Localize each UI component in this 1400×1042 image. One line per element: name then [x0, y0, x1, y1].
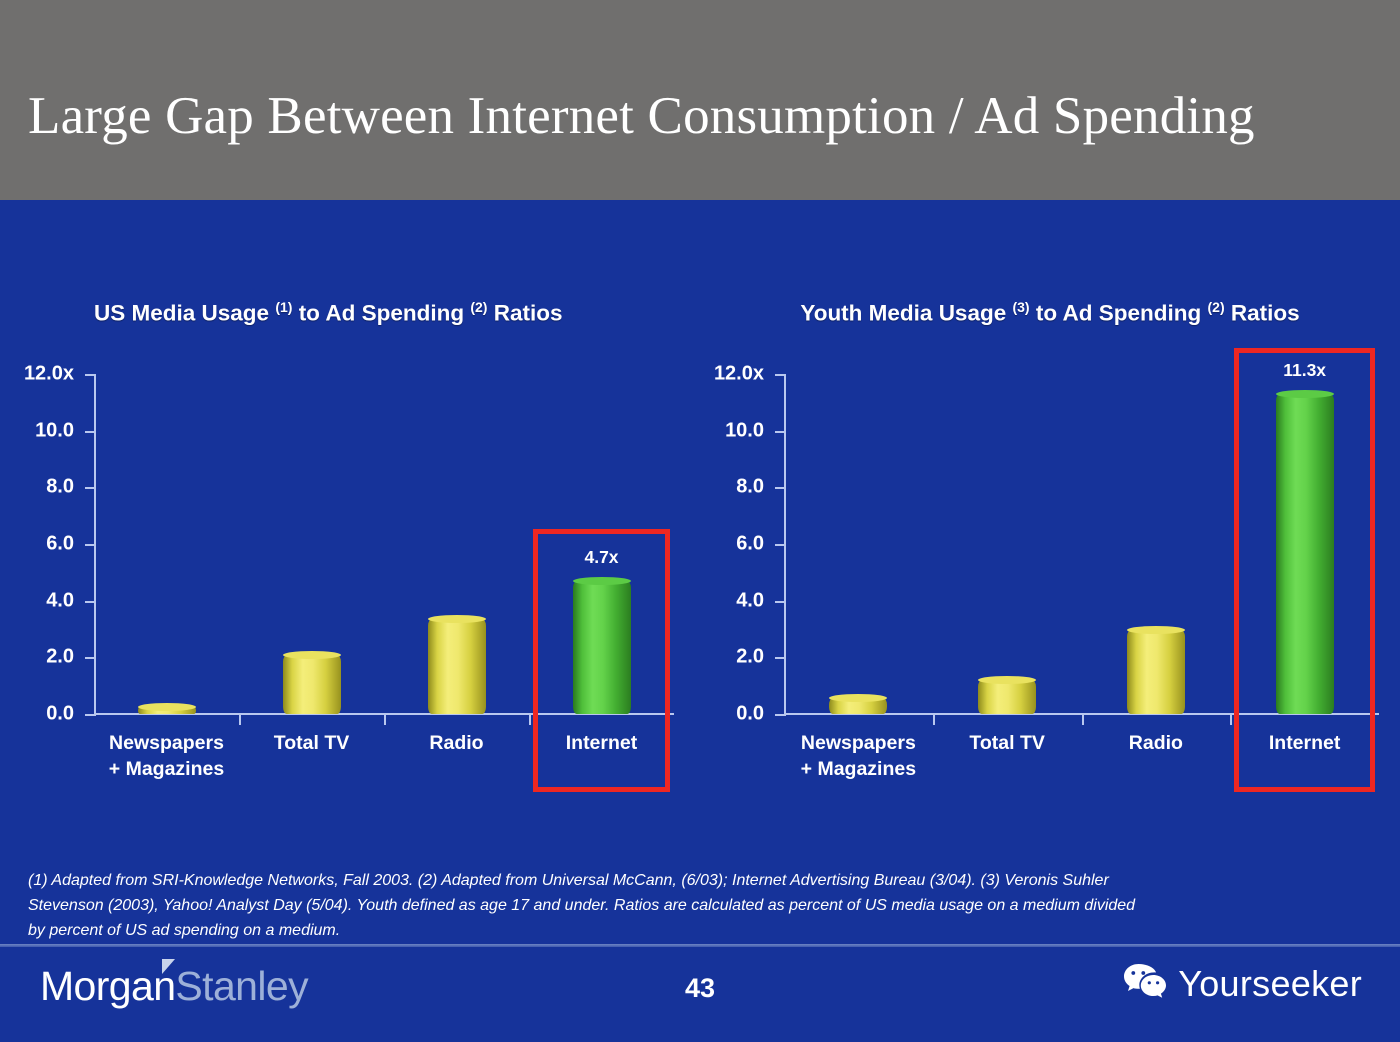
chart-title-part-b: to Ad Spending: [292, 301, 470, 326]
footnote-ref-2: (2): [1208, 299, 1225, 315]
y-axis-tick: [775, 544, 786, 546]
chart-title-youth: Youth Media Usage (3) to Ad Spending (2)…: [700, 290, 1400, 331]
slide-footer: MorganStanley 43 Yourseeker: [0, 947, 1400, 1042]
x-axis-label-internet: Internet: [1230, 730, 1379, 782]
y-axis-tick-label: 10.0: [35, 419, 74, 442]
plot-area-us: 4.7x 0.02.04.06.08.010.012.0x: [94, 374, 674, 714]
bar-group-us: 4.7x: [94, 374, 674, 714]
x-axis-label-line: Newspapers: [784, 730, 933, 756]
wechat-icon: [1122, 962, 1168, 1005]
x-axis-label-line: Total TV: [933, 730, 1082, 756]
x-axis-label-radio: Radio: [384, 730, 529, 782]
chart-title-us: US Media Usage (1) to Ad Spending (2) Ra…: [0, 290, 700, 331]
bar-cell[interactable]: [94, 374, 239, 714]
y-axis-tick: [775, 714, 786, 716]
y-axis-tick-label: 0.0: [46, 703, 74, 726]
x-axis-label-total-tv: Total TV: [239, 730, 384, 782]
x-axis-label-line: Internet: [1230, 730, 1379, 756]
y-axis-tick-label: 8.0: [736, 476, 764, 499]
y-axis-tick: [85, 714, 96, 716]
bar-value-label: 11.3x: [1283, 360, 1326, 381]
y-axis-tick-label: 6.0: [46, 533, 74, 556]
x-axis-label-line: Total TV: [239, 730, 384, 756]
bar-cell[interactable]: [933, 374, 1082, 714]
yourseeker-label: Yourseeker: [1178, 963, 1362, 1005]
footnote-line-3: by percent of US ad spending on a medium…: [28, 918, 1374, 943]
y-axis-tick: [85, 657, 96, 659]
y-axis-tick-label: 2.0: [46, 646, 74, 669]
x-axis-label-line: + Magazines: [784, 756, 933, 782]
chart-title-part-c: Ratios: [1225, 301, 1300, 326]
y-axis-tick: [85, 487, 96, 489]
chart-title-part-c: Ratios: [487, 301, 562, 326]
bar-cell[interactable]: 4.7x: [529, 374, 674, 714]
footnote-line-2: Stevenson (2003), Yahoo! Analyst Day (5/…: [28, 893, 1374, 918]
bar-cell[interactable]: [384, 374, 529, 714]
chart-title-part-a: Youth Media Usage: [800, 301, 1012, 326]
bar-cell[interactable]: [784, 374, 933, 714]
x-axis-label-total-tv: Total TV: [933, 730, 1082, 782]
bar-newspapers-magazines[interactable]: [829, 698, 887, 714]
y-axis-tick-label: 12.0x: [24, 363, 74, 386]
y-axis-tick: [775, 487, 786, 489]
y-axis-tick-label: 8.0: [46, 476, 74, 499]
x-axis-label-line: + Magazines: [94, 756, 239, 782]
bar-radio[interactable]: [1127, 630, 1185, 714]
y-axis-tick: [775, 374, 786, 376]
x-axis-labels-youth: Newspapers+ MagazinesTotal TVRadioIntern…: [784, 730, 1379, 782]
y-axis-tick-label: 2.0: [736, 646, 764, 669]
chart-title-part-b: to Ad Spending: [1030, 301, 1208, 326]
x-axis-tick: [1230, 715, 1232, 725]
page-title: Large Gap Between Internet Consumption /…: [28, 86, 1378, 146]
x-axis-label-line: Radio: [384, 730, 529, 756]
x-axis-label-newspapers-magazines: Newspapers+ Magazines: [784, 730, 933, 782]
y-axis-tick: [85, 601, 96, 603]
yourseeker-watermark: Yourseeker: [1122, 962, 1362, 1005]
y-axis-tick: [85, 544, 96, 546]
bar-cell[interactable]: [239, 374, 384, 714]
x-axis-label-internet: Internet: [529, 730, 674, 782]
chart-panel-youth-media-usage: Youth Media Usage (3) to Ad Spending (2)…: [700, 236, 1400, 816]
y-axis-tick-label: 4.0: [46, 589, 74, 612]
bar-value-label: 4.7x: [584, 547, 618, 568]
slide: Large Gap Between Internet Consumption /…: [0, 0, 1400, 1042]
morgan-stanley-triangle-icon: [162, 959, 175, 974]
bar-cell[interactable]: 11.3x: [1230, 374, 1379, 714]
y-axis-tick-label: 4.0: [736, 589, 764, 612]
bar-internet[interactable]: 4.7x: [573, 581, 631, 714]
y-axis-tick-label: 10.0: [725, 419, 764, 442]
footnote-ref-1: (1): [275, 299, 292, 315]
bar-cell[interactable]: [1082, 374, 1231, 714]
y-axis-tick-label: 0.0: [736, 703, 764, 726]
x-axis-label-line: Newspapers: [94, 730, 239, 756]
y-axis-tick-label: 6.0: [736, 533, 764, 556]
bar-internet[interactable]: 11.3x: [1276, 394, 1334, 714]
footnote-ref-2: (2): [470, 299, 487, 315]
bar-radio[interactable]: [428, 619, 486, 714]
footnote-ref-3: (3): [1012, 299, 1029, 315]
x-axis-tick: [529, 715, 531, 725]
x-axis-label-newspapers-magazines: Newspapers+ Magazines: [94, 730, 239, 782]
chart-panel-us-media-usage: US Media Usage (1) to Ad Spending (2) Ra…: [0, 236, 700, 816]
x-axis-tick: [933, 715, 935, 725]
x-axis-label-line: Internet: [529, 730, 674, 756]
x-axis-label-line: Radio: [1082, 730, 1231, 756]
bar-newspapers-magazines[interactable]: [138, 707, 196, 714]
x-axis-tick: [384, 715, 386, 725]
y-axis-tick: [775, 431, 786, 433]
x-axis-tick: [1082, 715, 1084, 725]
bar-group-youth: 11.3x: [784, 374, 1379, 714]
bar-total-tv[interactable]: [978, 680, 1036, 714]
plot-area-youth: 11.3x 0.02.04.06.08.010.012.0x: [784, 374, 1379, 714]
y-axis-tick: [775, 601, 786, 603]
y-axis-tick-label: 12.0x: [714, 363, 764, 386]
footnote-line-1: (1) Adapted from SRI-Knowledge Networks,…: [28, 868, 1374, 893]
chart-title-part-a: US Media Usage: [94, 301, 275, 326]
x-axis-label-radio: Radio: [1082, 730, 1231, 782]
y-axis-tick: [775, 657, 786, 659]
y-axis-tick: [85, 374, 96, 376]
footnote-block: (1) Adapted from SRI-Knowledge Networks,…: [28, 868, 1374, 943]
x-axis-tick: [239, 715, 241, 725]
y-axis-tick: [85, 431, 96, 433]
bar-total-tv[interactable]: [283, 655, 341, 715]
x-axis-labels-us: Newspapers+ MagazinesTotal TVRadioIntern…: [94, 730, 674, 782]
